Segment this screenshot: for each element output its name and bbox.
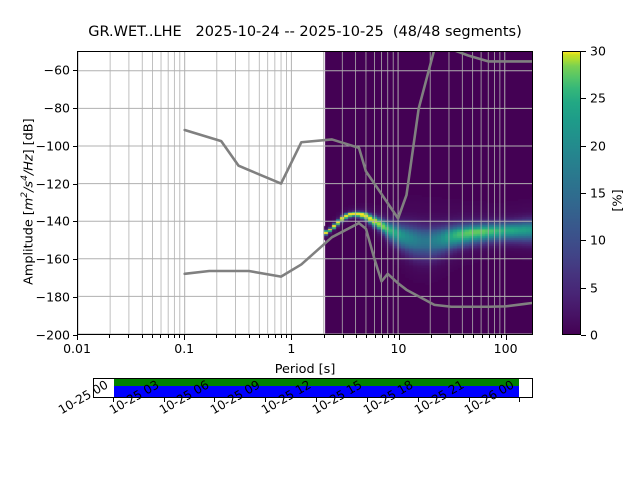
x-tick-mark: [235, 335, 236, 338]
y-tick-mark: [73, 70, 77, 71]
x-tick-mark: [291, 335, 292, 340]
colorbar-tick-label: 30: [590, 44, 606, 59]
x-tick-mark: [501, 335, 502, 338]
colorbar-label: [%]: [611, 141, 626, 261]
x-tick-mark: [356, 335, 357, 338]
x-tick-mark: [343, 335, 344, 338]
x-tick-mark: [268, 335, 269, 338]
coverage-tick-mark: [519, 398, 520, 402]
colorbar-tick-mark: [581, 193, 586, 194]
x-tick-label: 10: [391, 341, 407, 356]
x-tick-mark: [275, 335, 276, 338]
x-tick-mark: [142, 335, 143, 338]
colorbar-tick-label: 10: [590, 233, 606, 248]
x-tick-mark: [179, 335, 180, 338]
y-tick-mark: [73, 259, 77, 260]
colorbar-tick-label: 25: [590, 91, 606, 106]
page-title: GR.WET..LHE 2025-10-24 -- 2025-10-25 (48…: [0, 24, 610, 40]
x-tick-mark: [286, 335, 287, 338]
x-tick-mark: [259, 335, 260, 338]
x-tick-mark: [463, 335, 464, 338]
x-tick-mark: [382, 335, 383, 338]
colorbar-tick-mark: [581, 98, 586, 99]
x-tick-mark: [324, 335, 325, 338]
y-tick-mark: [73, 184, 77, 185]
y-tick-mark: [73, 108, 77, 109]
x-tick-mark: [399, 335, 400, 340]
colorbar-tick-label: 5: [590, 280, 598, 295]
colorbar-tick-mark: [581, 335, 586, 336]
y-tick-mark: [73, 146, 77, 147]
x-tick-mark: [394, 335, 395, 338]
colorbar-tick-mark: [581, 51, 586, 52]
x-tick-mark: [152, 335, 153, 338]
x-tick-mark: [128, 335, 129, 338]
y-tick-mark: [73, 297, 77, 298]
x-tick-mark: [366, 335, 367, 338]
noise-model-curves: [78, 52, 532, 334]
colorbar-tick-mark: [581, 240, 586, 241]
ppsd-figure: GR.WET..LHE 2025-10-24 -- 2025-10-25 (48…: [0, 0, 640, 480]
x-tick-mark: [184, 335, 185, 340]
colorbar-tick-mark: [581, 146, 586, 147]
colorbar-tick-label: 15: [590, 186, 606, 201]
x-tick-mark: [77, 335, 78, 340]
y-axis-label: Amplitude [m2/s4/Hz] [dB]: [19, 52, 36, 352]
y-tick-mark: [73, 221, 77, 222]
x-tick-mark: [375, 335, 376, 338]
colorbar[interactable]: [562, 51, 581, 335]
y-axis-label-suffix: ] [dB]: [22, 118, 37, 154]
x-tick-mark: [281, 335, 282, 338]
x-tick-label: 100: [494, 341, 518, 356]
x-tick-mark: [473, 335, 474, 338]
colorbar-tick-mark: [581, 288, 586, 289]
colorbar-tick-label: 20: [590, 138, 606, 153]
x-tick-mark: [482, 335, 483, 338]
x-tick-label: 0.1: [174, 341, 194, 356]
x-tick-mark: [174, 335, 175, 338]
x-tick-mark: [216, 335, 217, 338]
x-tick-mark: [249, 335, 250, 338]
x-tick-mark: [388, 335, 389, 338]
x-tick-mark: [168, 335, 169, 338]
x-tick-mark: [160, 335, 161, 338]
x-tick-label: 1: [287, 341, 295, 356]
x-tick-mark: [109, 335, 110, 338]
y-axis-label-math: m2/s4/Hz: [22, 154, 37, 210]
x-axis-label: Period [s]: [77, 362, 533, 377]
y-axis-label-prefix: Amplitude [: [22, 210, 37, 285]
x-tick-label: 0.01: [63, 341, 91, 356]
x-tick-mark: [506, 335, 507, 340]
x-tick-mark: [495, 335, 496, 338]
colorbar-tick-label: 0: [590, 328, 598, 343]
ppsd-plot-area[interactable]: [77, 51, 533, 335]
x-tick-mark: [489, 335, 490, 338]
x-tick-mark: [431, 335, 432, 338]
x-tick-mark: [450, 335, 451, 338]
